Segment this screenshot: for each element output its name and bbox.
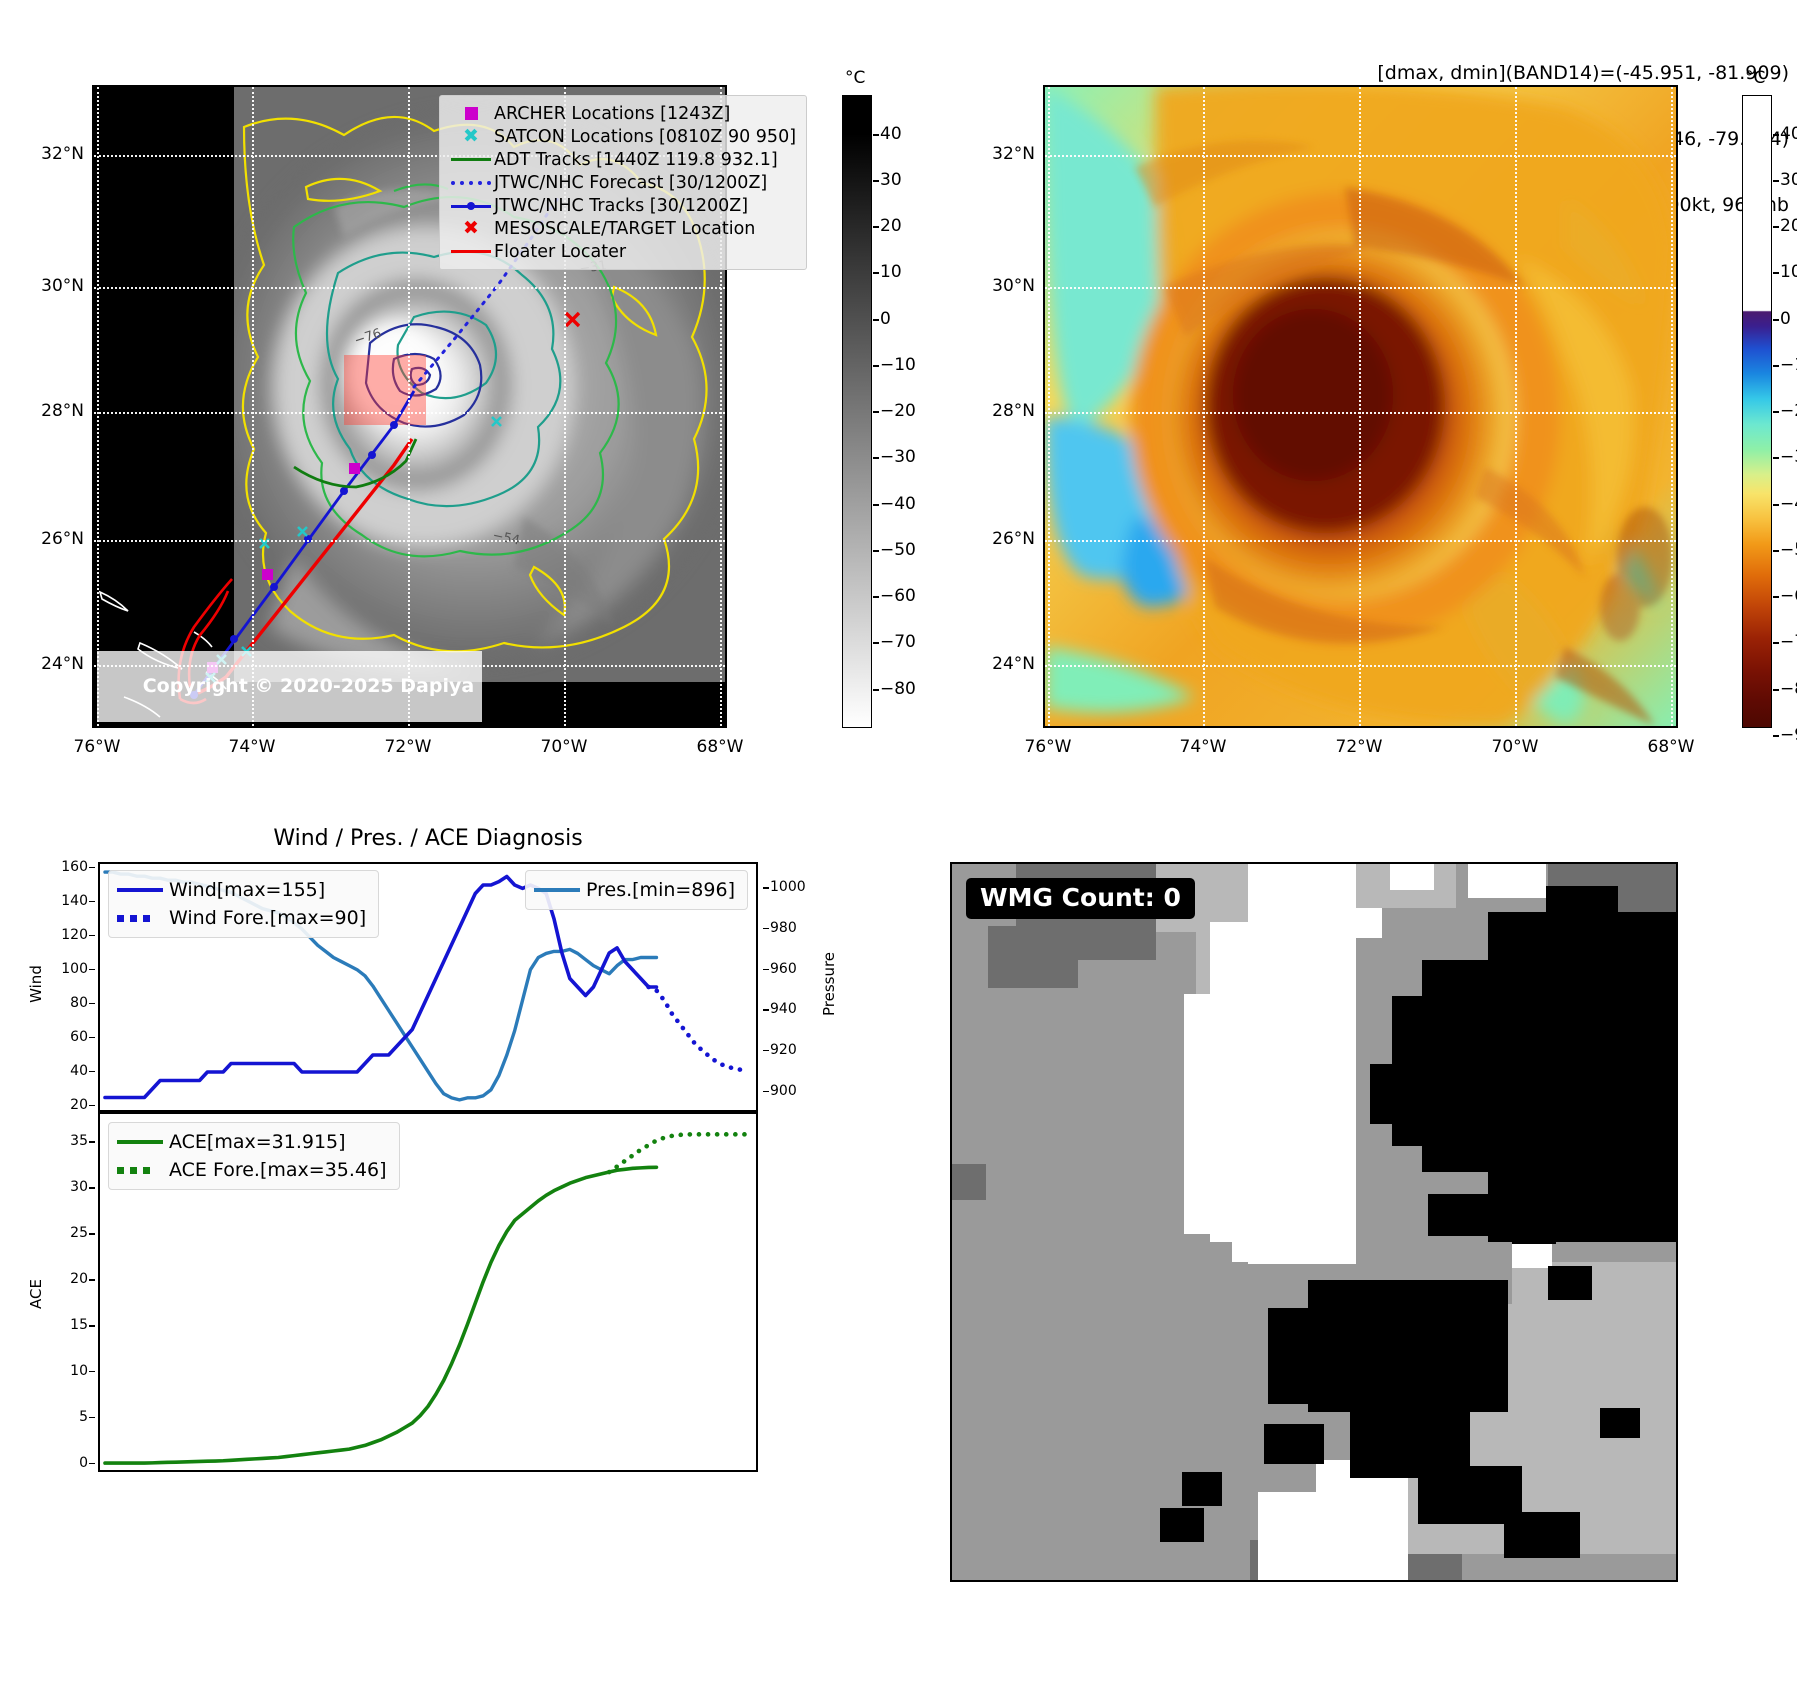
copyright-notice: Copyright © 2020-2025 Dapiya (97, 651, 482, 722)
awv-xtick-76W: 76°W (1016, 737, 1080, 757)
gridline-lon-76 (97, 87, 99, 726)
wind-ytick: 40 (44, 1063, 88, 1079)
steelblue-solid-line-icon (534, 888, 586, 893)
awv-ytick-32N: 32°N (973, 144, 1035, 164)
blue-solid-line-icon (117, 888, 169, 893)
ir-xtick-68W: 68°W (688, 737, 752, 757)
cyan-x-marker-icon: ✖ (448, 127, 494, 146)
ir-ytick-24N: 24°N (22, 654, 84, 674)
awv-cb-tick: 20 (1780, 216, 1797, 236)
ir-ytick-26N: 26°N (22, 529, 84, 549)
awv-gridline-lon-68 (1671, 87, 1673, 726)
awv-ytick-24N: 24°N (973, 654, 1035, 674)
ir-xtick-72W: 72°W (376, 737, 440, 757)
wind-ytick: 80 (44, 995, 88, 1011)
pressure-ytick: 1000 (770, 879, 824, 895)
awv-cb-tick: 0 (1780, 309, 1791, 329)
header-band14-dmax-dmin: [dmax, dmin](BAND14)=(-45.951, -81.909) (1377, 62, 1789, 84)
awv-cb-tick: 40 (1780, 124, 1797, 144)
ir-colorbar (842, 95, 872, 728)
wmg-count-badge: WMG Count: 0 (966, 878, 1195, 919)
ir-cb-tick: −40 (880, 494, 916, 514)
ir-ytick-32N: 32°N (22, 144, 84, 164)
ir-cb-tick: −10 (880, 355, 916, 375)
pressure-ytick: 940 (770, 1001, 824, 1017)
awv-xtick-70W: 70°W (1483, 737, 1547, 757)
blue-dotted-line-icon (117, 915, 169, 922)
ir-xtick-70W: 70°W (532, 737, 596, 757)
pressure-legend[interactable]: Pres.[min=896] (525, 870, 748, 910)
legend-item-mesoscale-target: ✖ MESOSCALE/TARGET Location (448, 217, 796, 240)
legend-item-pressure: Pres.[min=896] (534, 876, 735, 904)
ace-ytick: 25 (44, 1225, 88, 1241)
legend-item-floater-locater: Floater Locater (448, 240, 796, 263)
ir-cb-tick: 0 (880, 309, 891, 329)
awv-cb-tick: −70 (1780, 632, 1797, 652)
awv-cb-tick: 30 (1780, 170, 1797, 190)
ace-ytick: 35 (44, 1133, 88, 1149)
ace-ytick: 10 (44, 1363, 88, 1379)
legend-item-ace-forecast: ACE Fore.[max=35.46] (117, 1156, 387, 1184)
ace-chart[interactable]: ACE[max=31.915] ACE Fore.[max=35.46] (98, 1112, 758, 1472)
blue-dotted-line-icon (448, 181, 494, 185)
magenta-square-marker-icon (448, 107, 494, 120)
awv-xtick-68W: 68°W (1639, 737, 1703, 757)
legend-item-jtwc-forecast: JTWC/NHC Forecast [30/1200Z] (448, 171, 796, 194)
ir-ytick-30N: 30°N (22, 276, 84, 296)
green-dotted-line-icon (117, 1167, 169, 1174)
wind-ytick: 160 (44, 859, 88, 875)
awv-gridline-lon-72 (1359, 87, 1361, 726)
wind-axis-label: Wind (27, 944, 45, 1024)
wind-legend[interactable]: Wind[max=155] Wind Fore.[max=90] (108, 870, 379, 938)
awv-cb-tick: −10 (1780, 355, 1797, 375)
ir-cb-tick: −20 (880, 401, 916, 421)
legend-item-wind-forecast: Wind Fore.[max=90] (117, 904, 366, 932)
awv-colorbar (1742, 95, 1772, 728)
red-x-marker-icon: ✖ (448, 219, 494, 238)
awv-cb-tick: −60 (1780, 586, 1797, 606)
green-solid-line-icon (448, 158, 494, 162)
awv-gridline-lon-74 (1203, 87, 1205, 726)
wind-pres-ace-chart-title: Wind / Pres. / ACE Diagnosis (98, 826, 758, 851)
wind-pressure-chart[interactable]: Wind[max=155] Wind Fore.[max=90] Pres.[m… (98, 862, 758, 1112)
gridline-lon-72 (408, 87, 410, 726)
legend-item-archer: ARCHER Locations [1243Z] (448, 102, 796, 125)
ir-satellite-map[interactable]: −31 −76 −54 (92, 85, 727, 728)
legend-item-satcon: ✖ SATCON Locations [0810Z 90 950] (448, 125, 796, 148)
ir-cb-tick: 10 (880, 262, 902, 282)
awv-cb-tick: 10 (1780, 262, 1797, 282)
awv-ytick-26N: 26°N (973, 529, 1035, 549)
pressure-ytick: 900 (770, 1083, 824, 1099)
pressure-ytick: 920 (770, 1042, 824, 1058)
ir-map-legend[interactable]: ARCHER Locations [1243Z] ✖ SATCON Locati… (439, 95, 807, 270)
ir-ytick-28N: 28°N (22, 401, 84, 421)
wind-ytick: 120 (44, 927, 88, 943)
awv-cb-tick: −20 (1780, 401, 1797, 421)
awv-satellite-map[interactable] (1043, 85, 1678, 728)
screenshot-root: GOES-19 BAND14-DIAS MESOSCALE Time: 2025… (0, 0, 1797, 1690)
wmg-mask-panel[interactable]: WMG Count: 0 (950, 862, 1678, 1582)
awv-cb-tick: −50 (1780, 540, 1797, 560)
wind-ytick: 100 (44, 961, 88, 977)
ir-cb-tick: 40 (880, 124, 902, 144)
awv-cb-tick: −30 (1780, 447, 1797, 467)
awv-cb-tick: −40 (1780, 494, 1797, 514)
awv-gridline-lon-70 (1515, 87, 1517, 726)
mesoscale-target-box (344, 355, 426, 425)
ir-cb-tick: −70 (880, 632, 916, 652)
ir-cb-tick: −50 (880, 540, 916, 560)
awv-xtick-72W: 72°W (1327, 737, 1391, 757)
legend-item-ace: ACE[max=31.915] (117, 1128, 387, 1156)
ace-ytick: 20 (44, 1271, 88, 1287)
awv-ytick-28N: 28°N (973, 401, 1035, 421)
awv-xtick-74W: 74°W (1171, 737, 1235, 757)
blue-line-with-dot-icon (448, 201, 494, 211)
ir-xtick-74W: 74°W (220, 737, 284, 757)
wind-ytick: 140 (44, 893, 88, 909)
gridline-lon-74 (252, 87, 254, 726)
legend-item-adt: ADT Tracks [1440Z 119.8 932.1] (448, 148, 796, 171)
ir-cb-tick: −80 (880, 679, 916, 699)
green-solid-line-icon (117, 1140, 169, 1145)
ace-ytick: 15 (44, 1317, 88, 1333)
awv-cb-tick: −90 (1780, 725, 1797, 745)
awv-colorbar-title: °C (1745, 68, 1765, 88)
red-solid-line-icon (448, 250, 494, 254)
ir-colorbar-title: °C (845, 68, 865, 88)
legend-item-jtwc-tracks: JTWC/NHC Tracks [30/1200Z] (448, 194, 796, 217)
ir-cb-tick: −60 (880, 586, 916, 606)
ir-cb-tick: 30 (880, 170, 902, 190)
wind-ytick: 60 (44, 1029, 88, 1045)
ace-ytick: 30 (44, 1179, 88, 1195)
ir-cb-tick: 20 (880, 216, 902, 236)
pressure-ytick: 960 (770, 961, 824, 977)
awv-ytick-30N: 30°N (973, 276, 1035, 296)
pressure-ytick: 980 (770, 920, 824, 936)
wind-ytick: 20 (44, 1097, 88, 1113)
legend-item-wind: Wind[max=155] (117, 876, 366, 904)
ir-xtick-76W: 76°W (65, 737, 129, 757)
wmg-mask-image (952, 864, 1676, 1580)
ace-ytick: 0 (44, 1455, 88, 1471)
awv-image (1045, 87, 1676, 726)
ir-cb-tick: −30 (880, 447, 916, 467)
awv-cb-tick: −80 (1780, 679, 1797, 699)
ace-legend[interactable]: ACE[max=31.915] ACE Fore.[max=35.46] (108, 1122, 400, 1190)
ace-ytick: 5 (44, 1409, 88, 1425)
ace-axis-label: ACE (27, 1254, 45, 1334)
awv-gridline-lon-76 (1048, 87, 1050, 726)
